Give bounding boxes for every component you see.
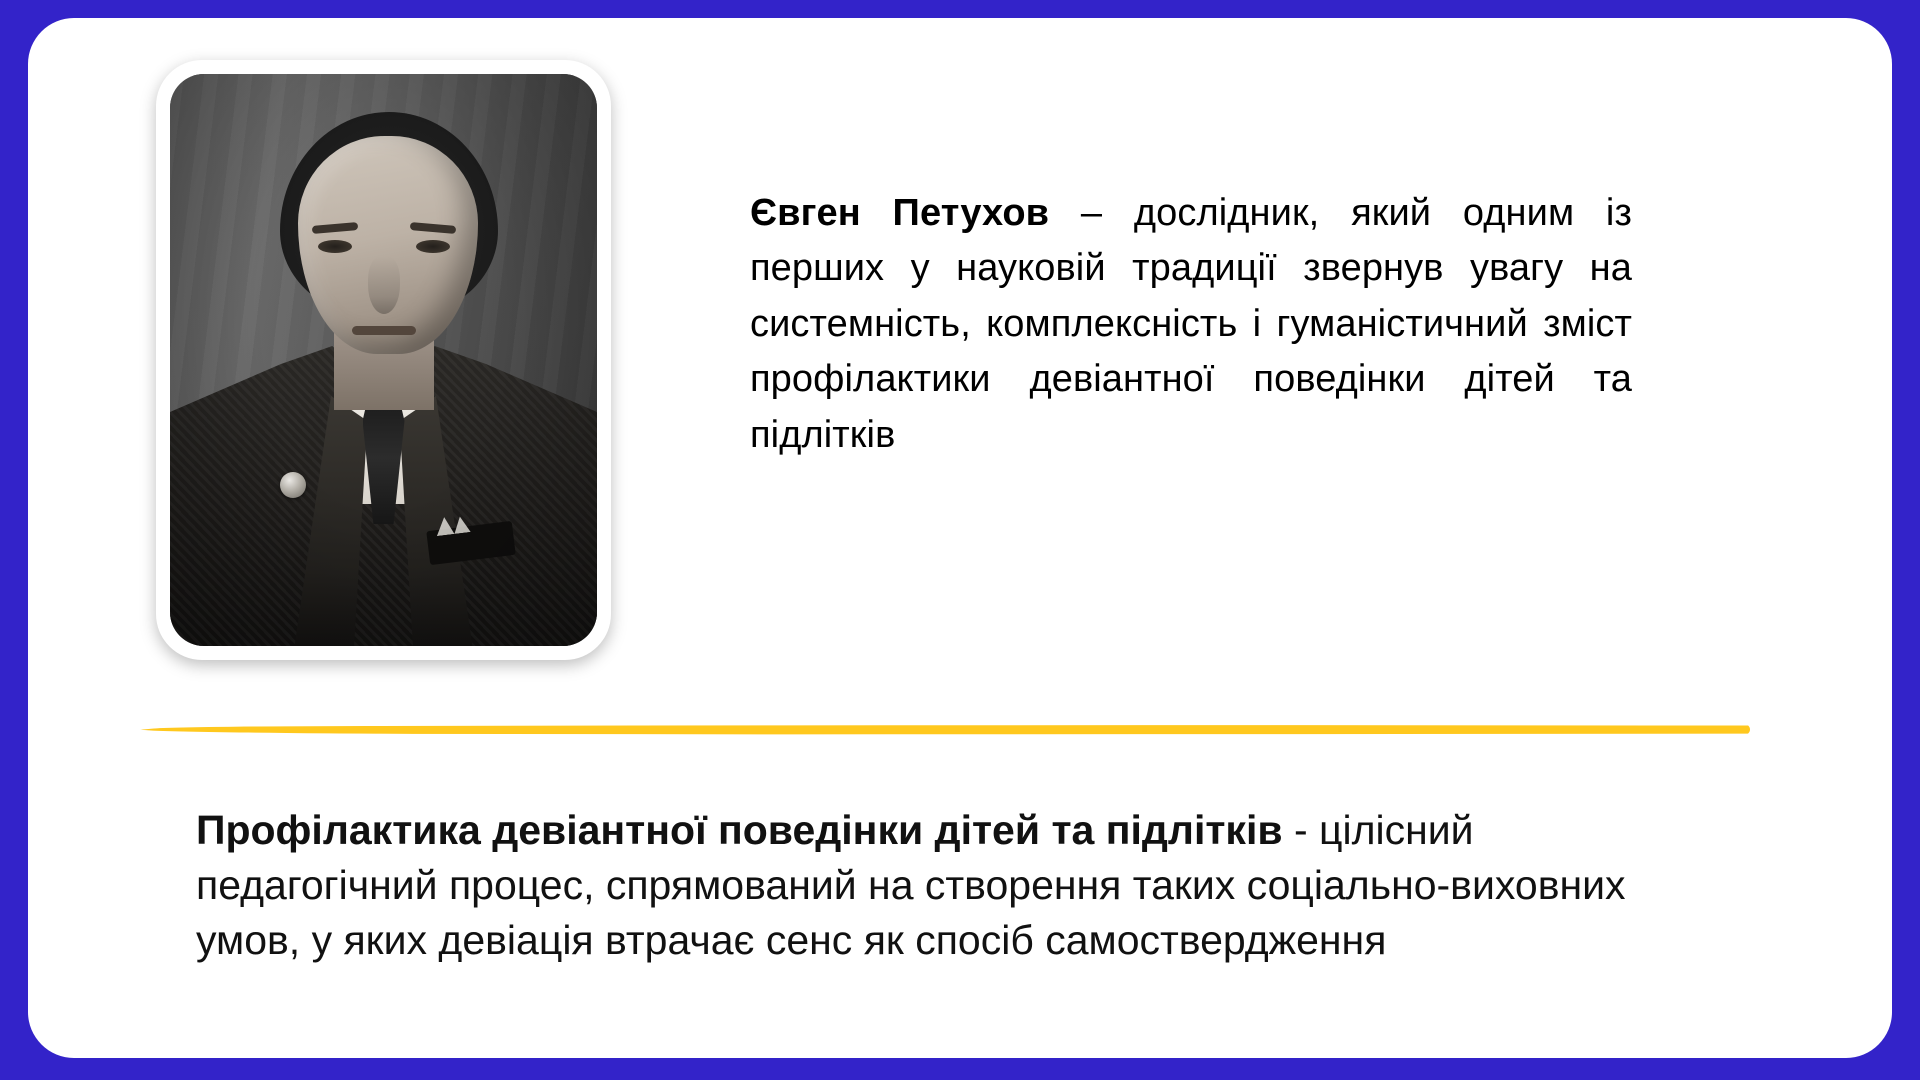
portrait-frame	[156, 60, 611, 660]
definition-lead: Профілактика девіантної поведінки дітей …	[196, 807, 1283, 853]
intro-paragraph: Євген Петухов – дослідник, який одним із…	[750, 186, 1632, 463]
portrait-eye-left	[318, 240, 352, 253]
portrait-lapel-badge-icon	[280, 472, 306, 498]
portrait-eye-right	[416, 240, 450, 253]
top-section: Євген Петухов – дослідник, який одним із…	[28, 18, 1892, 718]
content-card: Євген Петухов – дослідник, який одним із…	[28, 18, 1892, 1058]
slide: Євген Петухов – дослідник, який одним із…	[0, 0, 1920, 1080]
intro-lead: Євген Петухов	[750, 192, 1049, 234]
portrait-mouth	[352, 326, 416, 335]
accent-divider-stroke	[140, 724, 1750, 735]
portrait-photo	[170, 74, 597, 646]
portrait-nose	[368, 256, 400, 314]
accent-divider	[140, 718, 1750, 740]
definition-paragraph: Профілактика девіантної поведінки дітей …	[196, 803, 1676, 968]
